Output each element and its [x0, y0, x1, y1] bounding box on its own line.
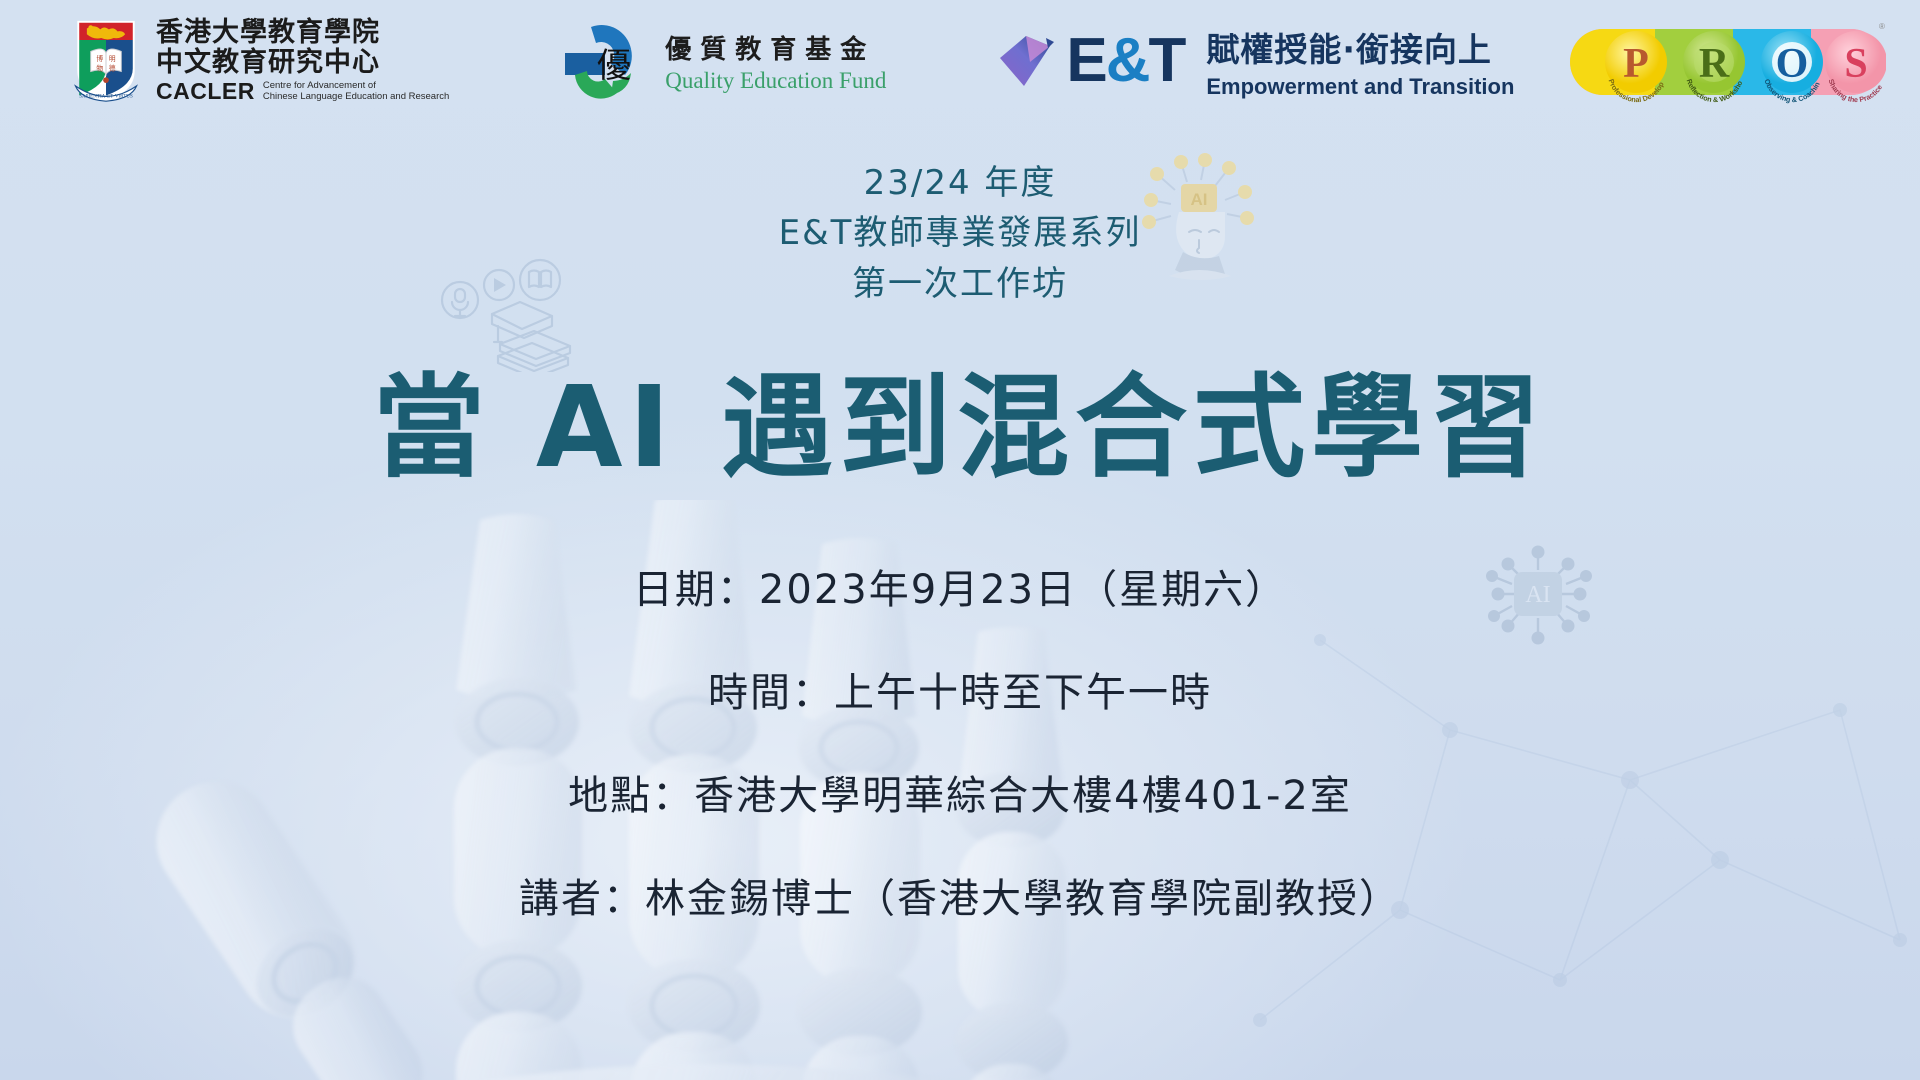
detail-venue: 地點：香港大學明華綜合大樓4樓401-2室	[0, 776, 1920, 816]
detail-speaker: 講者：林金錫博士（香港大學教育學院副教授）	[0, 879, 1920, 919]
page-title: 當 AI 遇到混合式學習	[0, 370, 1920, 488]
detail-date: 日期：2023年9月23日（星期六）	[0, 570, 1920, 610]
event-details: 日期：2023年9月23日（星期六） 時間：上午十時至下午一時 地點：香港大學明…	[0, 570, 1920, 919]
series-line-year: 23/24 年度	[0, 158, 1920, 208]
series-heading: 23/24 年度 E&T教師專業發展系列 第一次工作坊	[0, 158, 1920, 309]
series-line-name: E&T教師專業發展系列	[0, 208, 1920, 258]
poster-canvas: 博 明 物 德 SAPIENTIA·ET·VIRTUS 香港大學教育學院 中文教…	[0, 0, 1920, 1080]
poster-content: 23/24 年度 E&T教師專業發展系列 第一次工作坊 當 AI 遇到混合式學習…	[0, 0, 1920, 1080]
series-line-session: 第一次工作坊	[0, 259, 1920, 309]
detail-time: 時間：上午十時至下午一時	[0, 673, 1920, 713]
